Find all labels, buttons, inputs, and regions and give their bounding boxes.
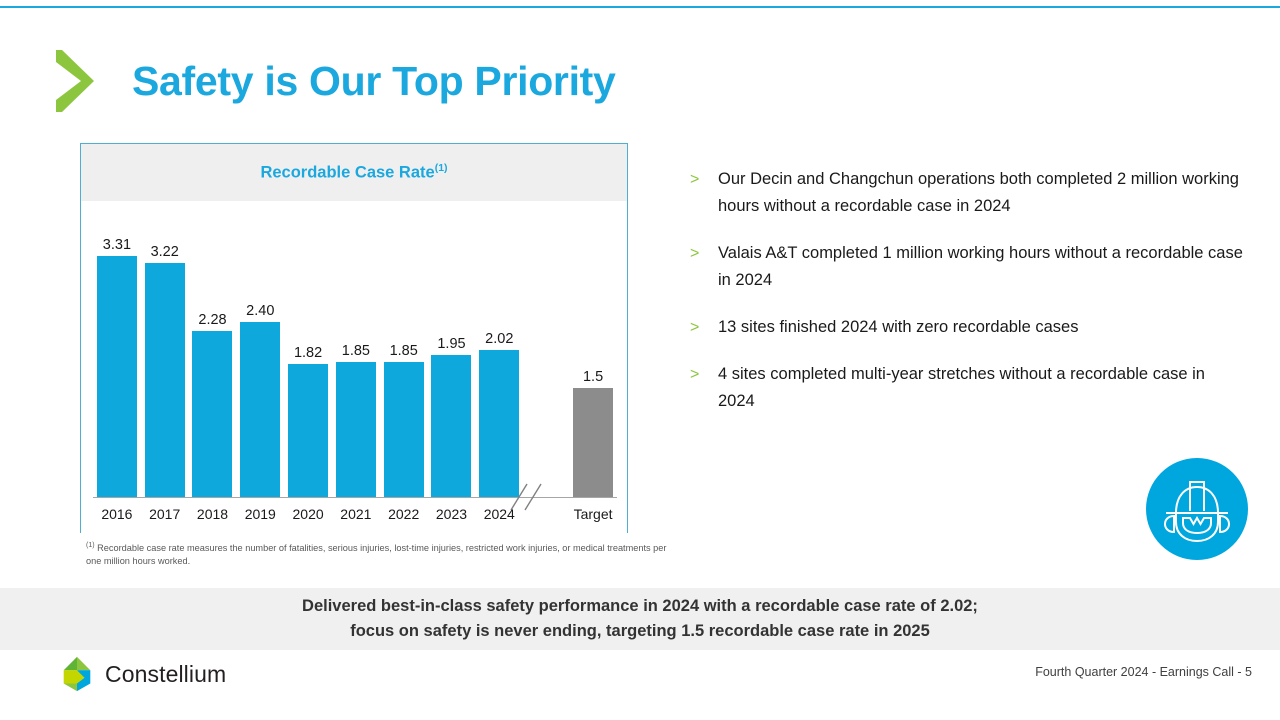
bar-group-2016: 3.31 xyxy=(93,235,141,497)
list-item-text: Our Decin and Changchun operations both … xyxy=(718,166,1246,220)
bullet-list: > Our Decin and Changchun operations bot… xyxy=(690,166,1246,415)
chart-title-footnote-marker: (1) xyxy=(435,162,448,174)
bar-value-label: 1.82 xyxy=(294,346,322,361)
footer-page-info: Fourth Quarter 2024 - Earnings Call - 5 xyxy=(1035,665,1252,679)
bar-group-2020: 1.82 xyxy=(284,235,332,497)
bar-group-target: 1.5 xyxy=(569,235,617,497)
banner-line-2: focus on safety is never ending, targeti… xyxy=(350,619,930,644)
logo-wordmark: Constellium xyxy=(105,663,226,686)
x-label-2020: 2020 xyxy=(284,507,332,521)
bar-value-label: 1.85 xyxy=(390,344,418,359)
bar-group-2019: 2.40 xyxy=(236,235,284,497)
list-item-text: Valais A&T completed 1 million working h… xyxy=(718,240,1246,294)
bullet-marker-icon: > xyxy=(690,166,718,220)
bar-rect xyxy=(192,331,232,497)
bar-rect xyxy=(479,350,519,497)
chart-title: Recordable Case Rate(1) xyxy=(260,162,447,183)
footnote-marker: (1) xyxy=(86,542,95,549)
bar-value-label: 2.02 xyxy=(485,332,513,347)
bullet-marker-icon: > xyxy=(690,240,718,294)
bar-rect xyxy=(145,263,185,497)
chart-footnote: (1) Recordable case rate measures the nu… xyxy=(86,541,672,568)
bar-rect xyxy=(288,364,328,497)
bullet-marker-icon: > xyxy=(690,314,718,341)
x-label-2024: 2024 xyxy=(475,507,523,521)
x-label-2018: 2018 xyxy=(189,507,237,521)
x-label-2022: 2022 xyxy=(380,507,428,521)
chart-bars: 3.31 3.22 2.28 2.40 1.82 xyxy=(93,235,615,497)
chart-header-band: Recordable Case Rate(1) xyxy=(81,144,627,201)
chevron-right-icon xyxy=(52,48,98,114)
banner-line-1: Delivered best-in-class safety performan… xyxy=(302,594,978,619)
slide: Safety is Our Top Priority Recordable Ca… xyxy=(0,0,1280,720)
list-item: > Our Decin and Changchun operations bot… xyxy=(690,166,1246,220)
x-label-2021: 2021 xyxy=(332,507,380,521)
footnote-text: Recordable case rate measures the number… xyxy=(86,543,666,566)
chart-x-labels: 2016 2017 2018 2019 2020 2021 2022 2023 … xyxy=(93,502,615,526)
bar-group-2023: 1.95 xyxy=(428,235,476,497)
x-label-2019: 2019 xyxy=(236,507,284,521)
bar-group-2021: 1.85 xyxy=(332,235,380,497)
chart-card: Recordable Case Rate(1) 3.31 3.22 2.28 xyxy=(80,143,628,533)
title-row: Safety is Our Top Priority xyxy=(52,48,616,114)
x-label-2023: 2023 xyxy=(428,507,476,521)
bar-group-2018: 2.28 xyxy=(189,235,237,497)
bar-value-label: 3.31 xyxy=(103,238,131,253)
bar-rect xyxy=(384,362,424,497)
constellium-logo-icon xyxy=(58,655,96,693)
bar-rect xyxy=(336,362,376,497)
bar-value-label: 1.5 xyxy=(583,370,603,385)
axis-break-gap xyxy=(523,235,569,497)
bar-value-label: 2.40 xyxy=(246,304,274,319)
bar-group-2024: 2.02 xyxy=(475,235,523,497)
bar-rect xyxy=(240,322,280,497)
list-item-text: 4 sites completed multi-year stretches w… xyxy=(718,361,1246,415)
x-label-2016: 2016 xyxy=(93,507,141,521)
x-label-target: Target xyxy=(569,507,617,521)
x-label-2017: 2017 xyxy=(141,507,189,521)
bar-group-2017: 3.22 xyxy=(141,235,189,497)
chart-title-text: Recordable Case Rate xyxy=(260,164,434,182)
bar-value-label: 3.22 xyxy=(151,245,179,260)
bar-rect xyxy=(97,256,137,497)
bar-group-2022: 1.85 xyxy=(380,235,428,497)
bullet-marker-icon: > xyxy=(690,361,718,415)
chart-plot-area: 3.31 3.22 2.28 2.40 1.82 xyxy=(81,201,627,534)
summary-banner: Delivered best-in-class safety performan… xyxy=(0,588,1280,650)
list-item: > 4 sites completed multi-year stretches… xyxy=(690,361,1246,415)
top-rule xyxy=(0,6,1280,8)
bar-value-label: 2.28 xyxy=(198,313,226,328)
list-item: > Valais A&T completed 1 million working… xyxy=(690,240,1246,294)
bar-value-label: 1.95 xyxy=(437,337,465,352)
list-item: > 13 sites finished 2024 with zero recor… xyxy=(690,314,1246,341)
footer-logo: Constellium xyxy=(58,655,226,693)
list-item-text: 13 sites finished 2024 with zero recorda… xyxy=(718,314,1078,341)
bar-rect xyxy=(431,355,471,497)
page-title: Safety is Our Top Priority xyxy=(132,61,616,102)
bar-value-label: 1.85 xyxy=(342,344,370,359)
hard-hat-safety-icon xyxy=(1146,458,1248,560)
bar-rect xyxy=(573,388,613,497)
